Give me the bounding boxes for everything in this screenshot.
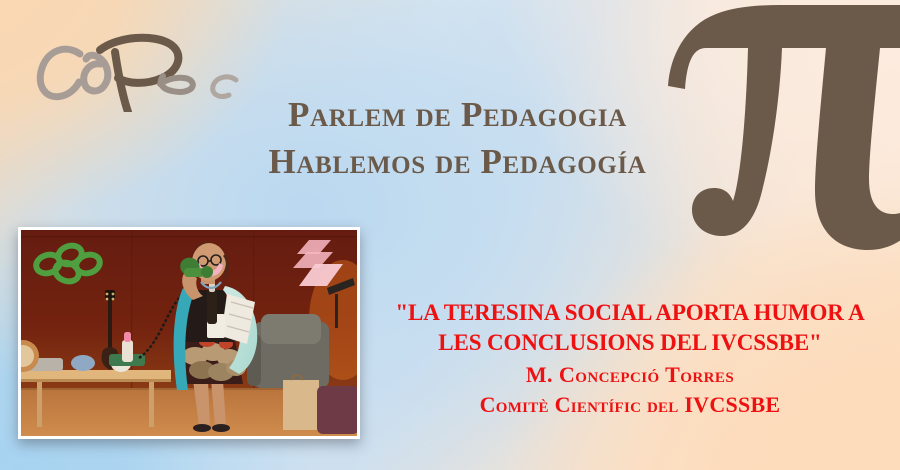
page-title-spanish: Hablemos de Pedagogía — [215, 141, 700, 184]
armchair-prop — [247, 314, 329, 388]
speaker-role: Comitè Científic del IVCSSBE — [366, 392, 894, 418]
speaker-name: M. Concepció Torres — [366, 362, 894, 388]
speaker-photo-image — [21, 230, 357, 436]
quote-line-1: "LA TERESINA SOCIAL APORTA HUMOR A — [366, 300, 894, 327]
quote-block: "LA TERESINA SOCIAL APORTA HUMOR A LES C… — [366, 300, 894, 417]
quote-line-2: LES CONCLUSIONS DEL IVCSSBE" — [366, 330, 894, 357]
poster-canvas: Parlem de Pedagogia Hablemos de Pedagogí… — [0, 0, 900, 470]
speaker-photo[interactable] — [18, 227, 360, 439]
page-title-catalan: Parlem de Pedagogia — [215, 94, 700, 137]
title-block: Parlem de Pedagogia Hablemos de Pedagogí… — [215, 94, 700, 183]
